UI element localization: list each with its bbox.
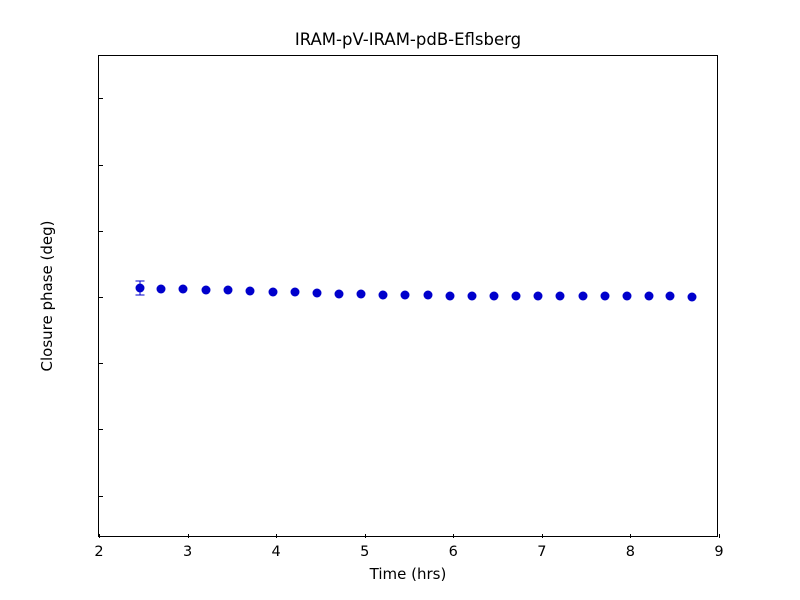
x-tick-label: 6 xyxy=(449,544,458,560)
data-point xyxy=(512,291,521,300)
data-point xyxy=(157,284,166,293)
y-tick-mark xyxy=(99,297,103,298)
x-axis-label: Time (hrs) xyxy=(98,565,718,583)
x-tick-label: 7 xyxy=(537,544,546,560)
data-point xyxy=(423,291,432,300)
data-point xyxy=(467,291,476,300)
data-point xyxy=(688,292,697,301)
x-tick-label: 2 xyxy=(94,544,103,560)
x-tick-label: 3 xyxy=(183,544,192,560)
x-tick-mark xyxy=(453,534,454,538)
data-point xyxy=(246,286,255,295)
data-point xyxy=(379,290,388,299)
data-point xyxy=(645,292,654,301)
y-tick-mark xyxy=(99,165,103,166)
data-point xyxy=(490,291,499,300)
x-tick-mark xyxy=(542,534,543,538)
data-point xyxy=(556,292,565,301)
y-tick-mark xyxy=(99,231,103,232)
y-tick-mark xyxy=(99,496,103,497)
data-point xyxy=(357,290,366,299)
y-axis-label: Closure phase (deg) xyxy=(38,55,56,537)
error-bar-cap xyxy=(135,294,144,295)
x-tick-mark xyxy=(630,534,631,538)
data-point xyxy=(202,285,211,294)
y-tick-mark xyxy=(99,429,103,430)
x-tick-mark xyxy=(719,534,720,538)
error-bar-cap xyxy=(135,280,144,281)
data-point xyxy=(578,292,587,301)
data-point xyxy=(600,292,609,301)
data-point xyxy=(534,292,543,301)
x-tick-mark xyxy=(365,534,366,538)
plot-title: IRAM-pV-IRAM-pdB-Eflsberg xyxy=(98,30,718,49)
x-tick-label: 4 xyxy=(272,544,281,560)
data-point xyxy=(312,289,321,298)
x-tick-mark xyxy=(188,534,189,538)
data-point xyxy=(335,289,344,298)
plot-data-area xyxy=(99,56,717,536)
x-tick-label: 8 xyxy=(626,544,635,560)
data-point xyxy=(268,287,277,296)
data-point xyxy=(401,290,410,299)
plot-axes-frame: −150−100−50050100150 23456789 xyxy=(98,55,718,537)
figure-canvas: IRAM-pV-IRAM-pdB-Eflsberg Closure phase … xyxy=(0,0,800,600)
x-tick-label: 9 xyxy=(714,544,723,560)
data-point xyxy=(666,292,675,301)
data-point xyxy=(179,285,188,294)
x-tick-mark xyxy=(99,534,100,538)
y-tick-mark xyxy=(99,363,103,364)
data-point xyxy=(290,288,299,297)
data-point xyxy=(224,286,233,295)
x-tick-mark xyxy=(276,534,277,538)
data-point xyxy=(135,283,144,292)
y-tick-mark xyxy=(99,98,103,99)
x-tick-label: 5 xyxy=(360,544,369,560)
data-point xyxy=(445,291,454,300)
data-point xyxy=(622,292,631,301)
